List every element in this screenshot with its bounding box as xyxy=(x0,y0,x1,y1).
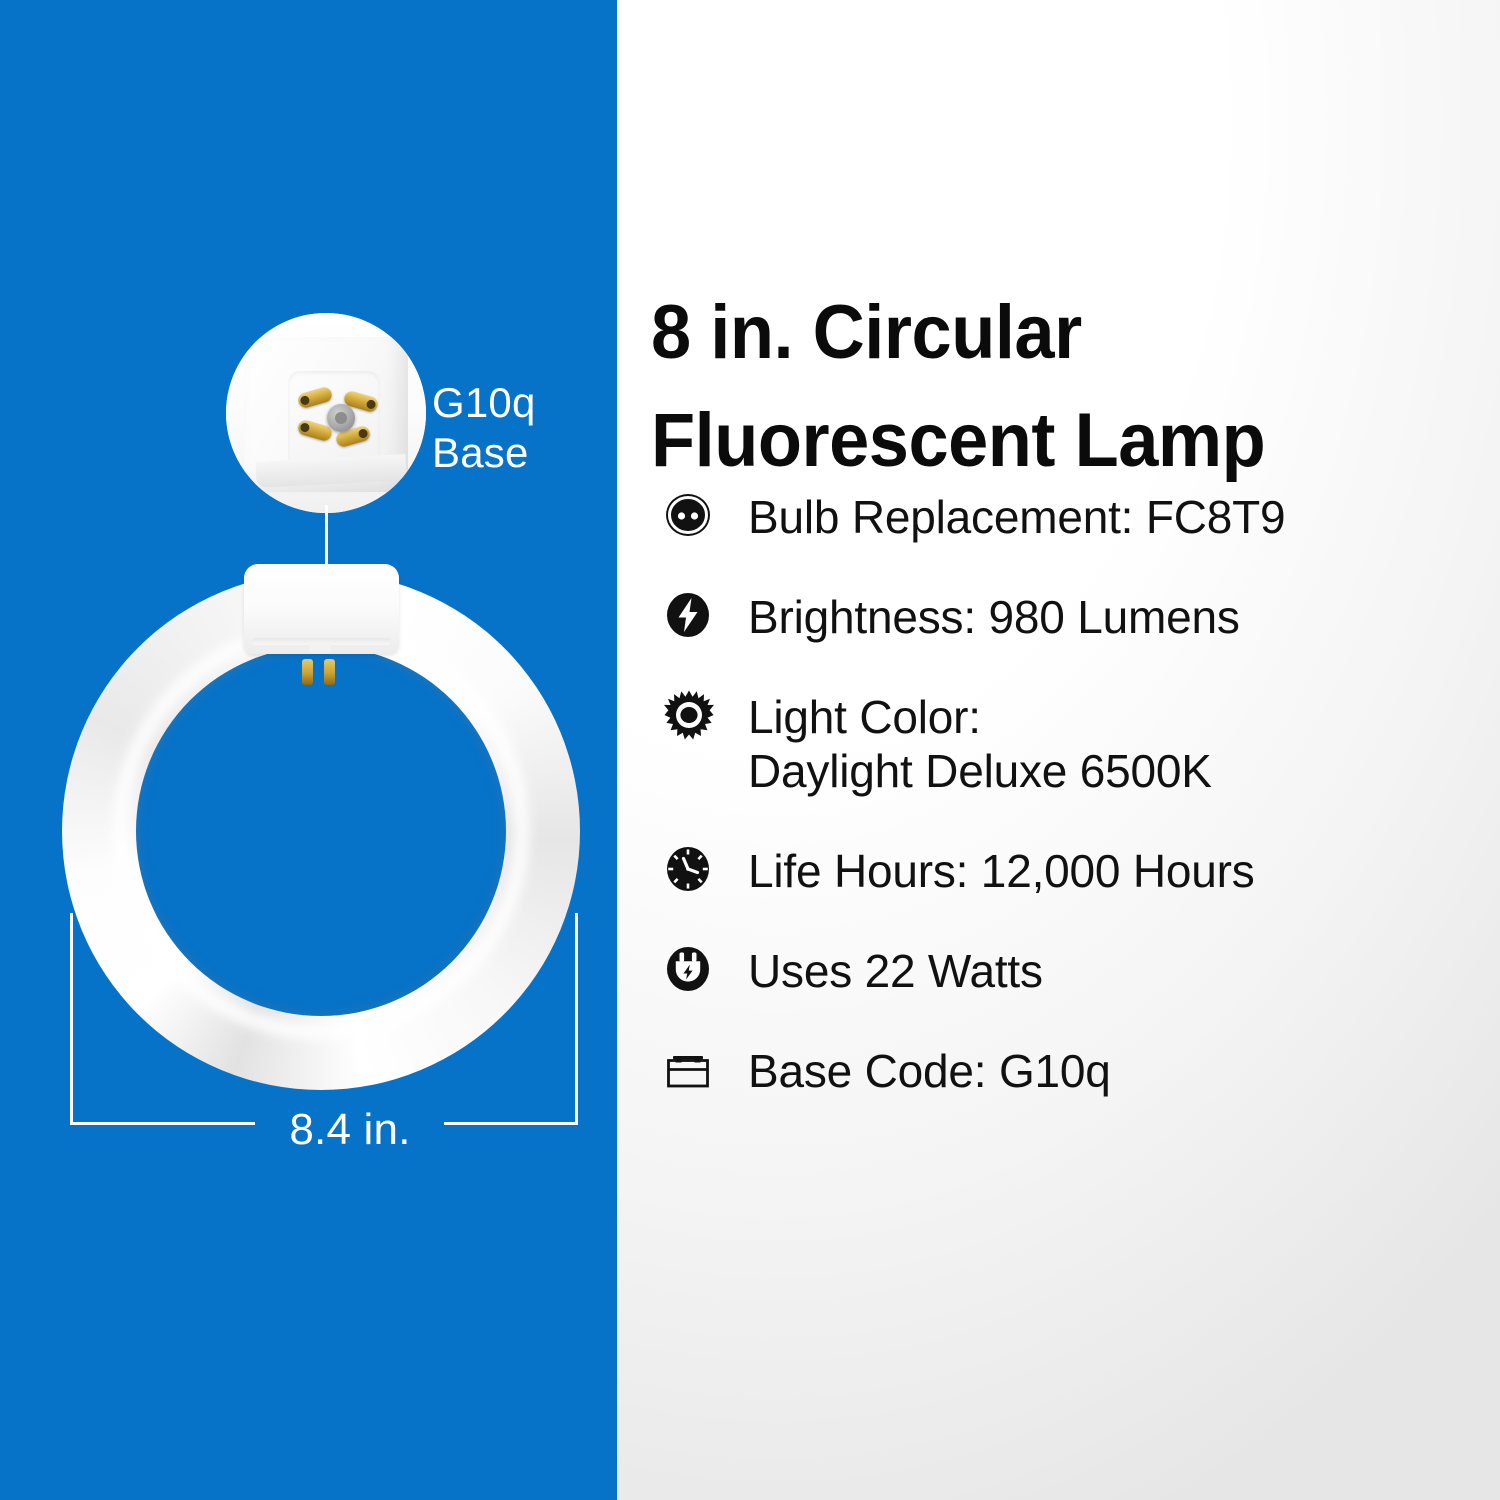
page-title: 8 in. Circular Fluorescent Lamp xyxy=(651,279,1430,495)
sun-icon xyxy=(664,689,714,741)
feature-row-life-hours: Life Hours: 12,000 Hours xyxy=(664,843,1464,899)
base-center-post xyxy=(327,404,355,432)
socket-icon xyxy=(664,489,714,541)
dimension-line-right xyxy=(444,1122,578,1125)
base-housing xyxy=(244,337,408,492)
feature-spec-list: Bulb Replacement: FC8T9 Brightness: 980 … xyxy=(664,489,1464,1143)
base-closeup-callout xyxy=(226,313,426,513)
lamp-base-notch xyxy=(309,642,331,653)
base-callout-label: G10q Base xyxy=(432,378,536,478)
product-infographic: G10q Base 8.4 in. 8 in. Circular xyxy=(0,0,1500,1500)
dimension-label: 8.4 in. xyxy=(255,1105,445,1155)
dimension-tick-left xyxy=(70,913,73,1125)
feature-text-brightness: Brightness: 980 Lumens xyxy=(748,589,1240,645)
page-title-line2: Fluorescent Lamp xyxy=(651,387,1430,495)
feature-label: Uses 22 Watts xyxy=(748,945,1043,997)
base-callout-label-line2: Base xyxy=(432,428,536,478)
clock-icon xyxy=(664,843,714,895)
feature-label-secondary: Daylight Deluxe 6500K xyxy=(748,745,1212,799)
base-closeup-photo xyxy=(226,313,426,513)
product-image-panel: G10q Base 8.4 in. xyxy=(0,0,617,1500)
feature-label: Life Hours: 12,000 Hours xyxy=(748,845,1255,897)
power-plug-icon xyxy=(664,943,714,995)
diameter-dimension-bracket: 8.4 in. xyxy=(70,913,578,1141)
lamp-base-icon xyxy=(664,1043,714,1095)
feature-row-base-code: Base Code: G10q xyxy=(664,1043,1464,1099)
base-ledge xyxy=(255,454,406,488)
lamp-connector-pin xyxy=(302,659,313,685)
feature-text-wattage: Uses 22 Watts xyxy=(748,943,1043,999)
lightning-bolt-icon xyxy=(664,589,714,641)
page-title-line1: 8 in. Circular xyxy=(651,279,1430,387)
feature-text-light-color: Light Color: Daylight Deluxe 6500K xyxy=(748,689,1212,799)
dimension-line-left xyxy=(70,1122,255,1125)
feature-text-life-hours: Life Hours: 12,000 Hours xyxy=(748,843,1255,899)
feature-label: Bulb Replacement: FC8T9 xyxy=(748,491,1285,543)
base-callout-label-line1: G10q xyxy=(432,378,536,428)
feature-text-bulb-replacement: Bulb Replacement: FC8T9 xyxy=(748,489,1285,545)
feature-row-light-color: Light Color: Daylight Deluxe 6500K xyxy=(664,689,1464,799)
feature-label: Light Color: xyxy=(748,691,981,743)
dimension-tick-right xyxy=(575,913,578,1125)
feature-row-wattage: Uses 22 Watts xyxy=(664,943,1464,999)
feature-label: Base Code: G10q xyxy=(748,1045,1111,1097)
feature-label: Brightness: 980 Lumens xyxy=(748,591,1240,643)
feature-row-brightness: Brightness: 980 Lumens xyxy=(664,589,1464,645)
lamp-connector-pin xyxy=(324,659,335,685)
feature-row-bulb-replacement: Bulb Replacement: FC8T9 xyxy=(664,489,1464,545)
feature-text-base-code: Base Code: G10q xyxy=(748,1043,1111,1099)
